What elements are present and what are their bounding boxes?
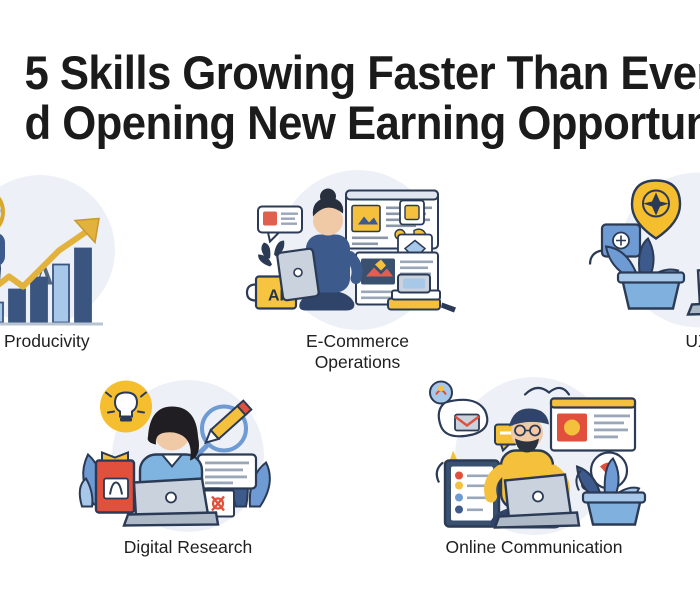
potted-plant — [606, 238, 684, 308]
ai-productivity-art: AI — [0, 172, 155, 327]
illustration-online-communication — [418, 378, 650, 533]
woman-with-laptop — [688, 192, 700, 314]
skill-label-e-commerce-line-1: E-Commerce — [245, 331, 470, 352]
e-commerce-art: AI — [248, 172, 468, 327]
skills-grid: AI — [0, 0, 700, 600]
illustration-digital-research — [78, 378, 298, 533]
magnifier-with-pen-icon — [196, 400, 251, 456]
skill-label-e-commerce-line-2: Operations — [245, 352, 470, 373]
digital-research-art — [78, 378, 298, 533]
chat-bubble — [258, 206, 302, 241]
skill-label-ux: UX — [585, 331, 700, 352]
ux-art — [588, 172, 700, 327]
illustration-ux — [585, 172, 700, 327]
potted-plant — [576, 458, 645, 524]
lightbulb-circle-icon — [100, 380, 152, 432]
skill-label-e-commerce: E-Commerce Operations — [245, 331, 470, 373]
online-communication-art — [419, 378, 649, 533]
skill-card-digital-research[interactable]: Digital Research — [78, 378, 298, 558]
skill-label-ai-productivity: d Producivity — [0, 331, 157, 352]
red-book — [96, 452, 134, 512]
mail-bubble — [430, 381, 487, 436]
skill-label-online-communication: Online Communication — [418, 537, 650, 558]
skill-card-ai-productivity[interactable]: AI — [0, 172, 157, 352]
illustration-e-commerce: AI — [245, 172, 470, 327]
books — [388, 274, 456, 312]
skill-card-e-commerce-operations[interactable]: AI — [245, 172, 470, 373]
skill-card-ux[interactable]: UX — [585, 172, 700, 352]
ai-coin-badge-icon: AI — [0, 184, 7, 240]
skill-card-online-communication[interactable]: Online Communication — [418, 378, 650, 558]
browser-window — [551, 398, 635, 450]
illustration-ai-productivity: AI — [0, 172, 157, 327]
skill-label-digital-research: Digital Research — [78, 537, 298, 558]
